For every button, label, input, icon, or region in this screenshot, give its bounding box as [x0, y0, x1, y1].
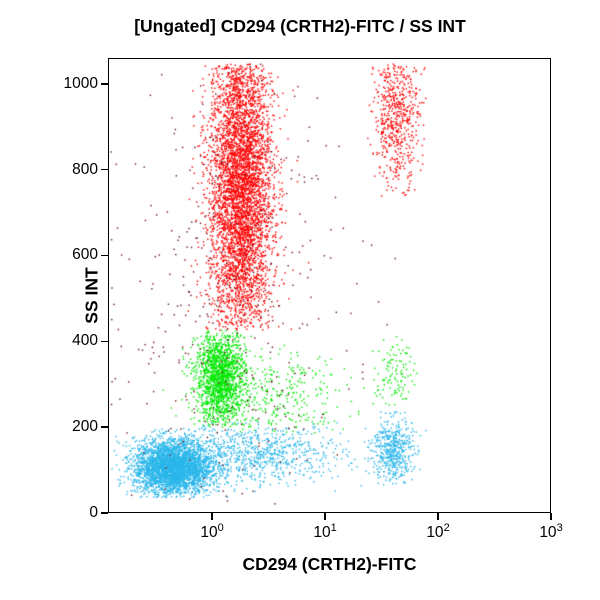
page-title: [Ungated] CD294 (CRTH2)-FITC / SS INT: [0, 16, 600, 37]
y-tick-mark: [101, 169, 108, 171]
flow-cytometry-plot: [Ungated] CD294 (CRTH2)-FITC / SS INT 02…: [0, 0, 600, 600]
x-tick-mark: [324, 513, 326, 520]
x-tick-mark: [437, 513, 439, 520]
y-tick-label: 1000: [40, 75, 98, 93]
y-tick-mark: [101, 83, 108, 85]
x-axis-label: CD294 (CRTH2)-FITC: [108, 554, 551, 575]
y-tick-mark: [101, 512, 108, 514]
x-tick-label: 101: [313, 522, 336, 542]
plot-area: [108, 58, 551, 513]
y-tick-label: 200: [40, 418, 98, 436]
x-tick-label: 100: [200, 522, 223, 542]
x-tick-label: 103: [539, 522, 562, 542]
y-axis-label: SS INT: [82, 196, 103, 396]
y-tick-mark: [101, 426, 108, 428]
y-tick-label: 800: [40, 161, 98, 179]
x-tick-label: 102: [426, 522, 449, 542]
x-tick-mark: [211, 513, 213, 520]
y-tick-label: 0: [40, 504, 98, 522]
scatter-canvas: [109, 59, 551, 513]
x-tick-mark: [550, 513, 552, 520]
